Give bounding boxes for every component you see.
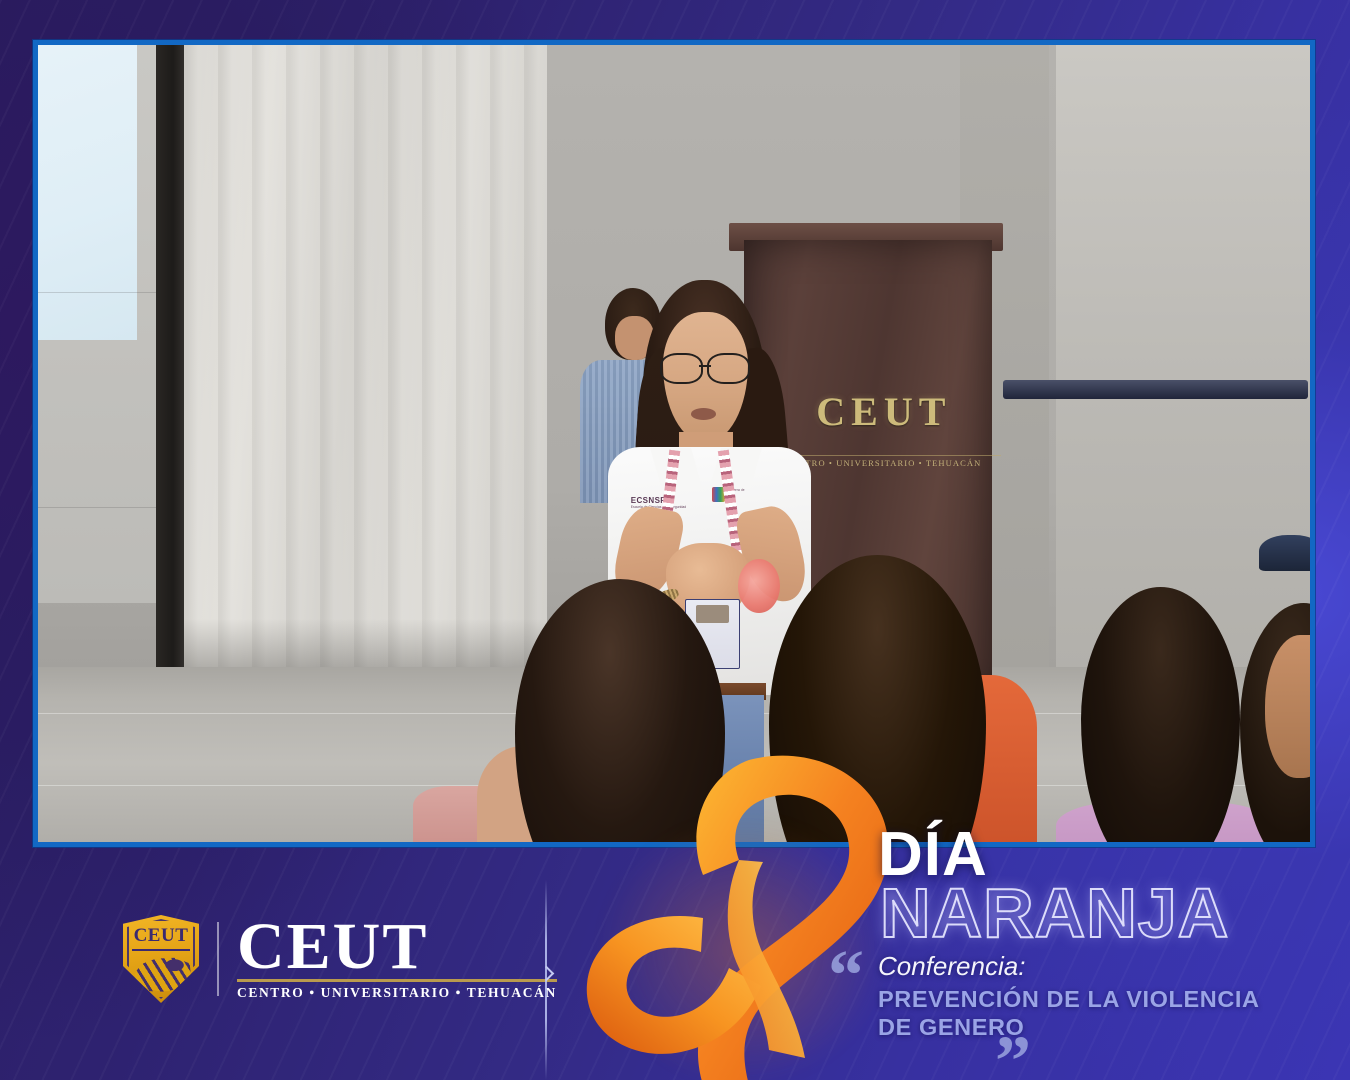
ceut-wordmark-tagline: CENTRO • UNIVERSITARIO • TEHUACÁN	[237, 985, 557, 1001]
shirt-logo-left-text: ECSNSP	[631, 496, 666, 505]
ceut-shield-logo: CEUT	[123, 915, 199, 1003]
wall-rail	[1003, 380, 1308, 399]
speaker-wrist-scrunchie	[738, 559, 780, 613]
conference-label: Conferencia:	[878, 952, 1298, 981]
ceut-brand-lockup: CEUT CEUT CENTRO • UNIVERSITARIO • TEHUA…	[123, 915, 557, 1003]
stage-curtain	[184, 45, 547, 683]
conference-block: Conferencia: PREVENCIÓN DE LA VIOLENCIA …	[878, 952, 1298, 1042]
speaker-glasses	[660, 353, 750, 380]
quote-open-icon: “	[828, 954, 864, 997]
podium-ceut-logo: CEUT	[782, 392, 986, 432]
section-divider-line	[545, 880, 547, 1080]
ceut-wordmark: CEUT CENTRO • UNIVERSITARIO • TEHUACÁN	[237, 917, 557, 1002]
event-photo: CEUT CENTRO • UNIVERSITARIO • TEHUACÁN E…	[38, 45, 1310, 842]
conference-topic: PREVENCIÓN DE LA VIOLENCIA DE GENERO	[878, 985, 1298, 1042]
quote-close-icon: ”	[995, 1040, 1031, 1080]
ceut-wordmark-rule	[237, 979, 557, 982]
wall-column-right	[1056, 45, 1310, 675]
ceut-wordmark-text: CEUT	[237, 917, 557, 978]
ceut-shield-text: CEUT	[132, 925, 190, 951]
projection-screen	[38, 45, 137, 340]
title-line-naranja: NARANJA	[880, 878, 1229, 948]
audience-member-head-3	[1081, 587, 1240, 842]
curtain-gap-shadow	[156, 45, 187, 675]
audience-member-cap	[1259, 535, 1310, 571]
event-photo-frame: CEUT CENTRO • UNIVERSITARIO • TEHUACÁN E…	[33, 40, 1315, 847]
poster-canvas: CEUT CENTRO • UNIVERSITARIO • TEHUACÁN E…	[0, 0, 1350, 1080]
speaker-mouth	[691, 408, 716, 420]
logo-divider	[217, 922, 219, 996]
tiger-mascot-icon	[130, 954, 192, 994]
